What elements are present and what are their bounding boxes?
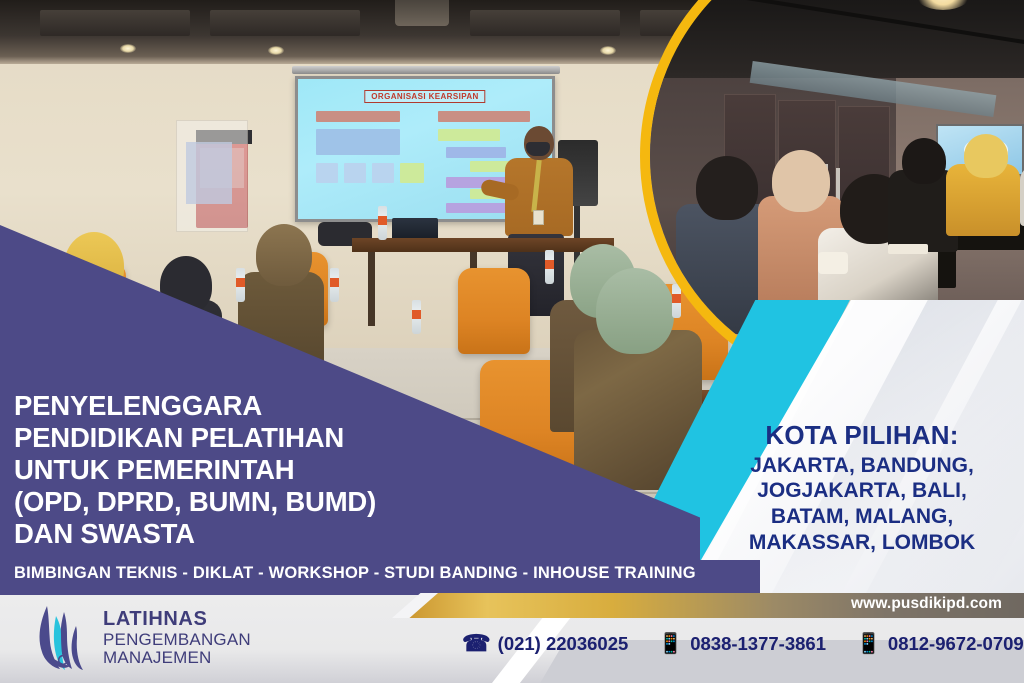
page-title: PENYELENGGARA PENDIDIKAN PELATIHAN UNTUK… bbox=[14, 390, 534, 549]
cities-line-4: MAKASSAR, LOMBOK bbox=[700, 530, 1024, 556]
telephone-number[interactable]: (021) 22036025 bbox=[498, 633, 629, 655]
headline-line-3: UNTUK PEMERINTAH bbox=[14, 454, 534, 486]
cities-line-3: BATAM, MALANG, bbox=[700, 504, 1024, 530]
brand-logo[interactable]: LATIHNAS PENGEMBANGAN MANAJEMEN bbox=[34, 604, 251, 672]
promotional-banner: ORGANISASI KEARSIPAN bbox=[0, 0, 1024, 683]
logo-line-1: LATIHNAS bbox=[103, 609, 251, 630]
ceiling-projector bbox=[395, 0, 449, 26]
contact-telephone[interactable]: ☎ (021) 22036025 bbox=[462, 632, 628, 655]
mobile-number-2[interactable]: 0812-9672-0709 bbox=[888, 633, 1024, 655]
mobile-phone-icon: 📱 bbox=[658, 634, 683, 654]
services-tagline: BIMBINGAN TEKNIS - DIKLAT - WORKSHOP - S… bbox=[14, 564, 696, 583]
cities-list: JAKARTA, BANDUNG, JOGJAKARTA, BALI, BATA… bbox=[700, 453, 1024, 555]
contact-mobile-1[interactable]: 📱 0838-1377-3861 bbox=[658, 633, 826, 655]
cities-line-1: JAKARTA, BANDUNG, bbox=[700, 453, 1024, 479]
projection-screen-rail bbox=[292, 66, 560, 74]
mobile-number-1[interactable]: 0838-1377-3861 bbox=[690, 633, 826, 655]
headline-line-4: (OPD, DPRD, BUMN, BUMD) bbox=[14, 486, 534, 518]
contact-list: ☎ (021) 22036025 📱 0838-1377-3861 📱 0812… bbox=[462, 632, 1024, 655]
headline-line-5: DAN SWASTA bbox=[14, 518, 534, 550]
face-mask bbox=[526, 142, 550, 156]
website-url[interactable]: www.pusdikipd.com bbox=[851, 595, 1002, 613]
contact-mobile-2[interactable]: 📱 0812-9672-0709 bbox=[856, 633, 1024, 655]
logo-line-2: PENGEMBANGAN bbox=[103, 631, 251, 649]
slide-title: ORGANISASI KEARSIPAN bbox=[364, 90, 485, 103]
cities-title: KOTA PILIHAN: bbox=[700, 420, 1024, 451]
cities-line-2: JOGJAKARTA, BALI, bbox=[700, 478, 1024, 504]
logo-line-3: MANAJEMEN bbox=[103, 649, 251, 667]
telephone-icon: ☎ bbox=[462, 632, 491, 655]
latihnas-flame-logo-icon bbox=[34, 604, 92, 672]
logo-wordmark: LATIHNAS PENGEMBANGAN MANAJEMEN bbox=[103, 609, 251, 666]
cities-block: KOTA PILIHAN: JAKARTA, BANDUNG, JOGJAKAR… bbox=[700, 420, 1024, 555]
headline-line-2: PENDIDIKAN PELATIHAN bbox=[14, 422, 534, 454]
headline-line-1: PENYELENGGARA bbox=[14, 390, 534, 422]
mobile-phone-icon: 📱 bbox=[856, 634, 881, 654]
front-table bbox=[352, 238, 614, 252]
